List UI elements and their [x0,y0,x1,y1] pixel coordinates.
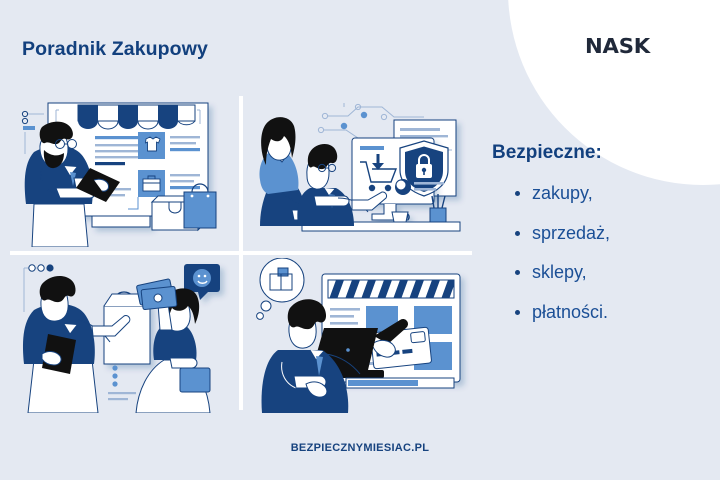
page-title: Poradnik Zakupowy [22,38,208,61]
benefits-heading: Bezpieczne: [492,142,710,164]
illustration-online-store-browsing [12,92,236,247]
illustration-grid [10,92,474,414]
product-card-bag [138,170,165,197]
list-item: sprzedaż, [492,223,710,244]
benefits-rail: Bezpieczne: zakupy, sprzedaż, sklepy, pł… [492,142,710,323]
list-item-label: zakupy, [532,183,593,203]
nask-logo: NASK [585,34,650,58]
banknotes [136,279,177,310]
bullet-icon [515,270,520,275]
list-item: płatności. [492,302,710,323]
footer-url: BEZPIECZNYMIESIAC.PL [0,442,720,454]
bullet-icon [515,191,520,196]
benefits-list: zakupy, sprzedaż, sklepy, płatności. [492,183,710,323]
bag-caption [108,365,136,400]
illustration-handover-payment [12,258,236,413]
poster-canvas: Poradnik Zakupowy NASK [0,0,720,480]
bullet-icon [515,231,520,236]
product-card-shirt [138,132,165,159]
list-item: sklepy, [492,262,710,283]
coffee-cup [392,212,409,222]
list-item-label: płatności. [532,302,608,322]
grid-divider-horizontal [10,251,472,255]
illustration-card-payment-shop [248,258,472,413]
illustration-secure-checkout [248,92,472,247]
bullet-icon [515,310,520,315]
list-item-label: sklepy, [532,262,587,282]
list-item-label: sprzedaż, [532,223,610,243]
list-item: zakupy, [492,183,710,204]
desk-plant [430,194,446,222]
